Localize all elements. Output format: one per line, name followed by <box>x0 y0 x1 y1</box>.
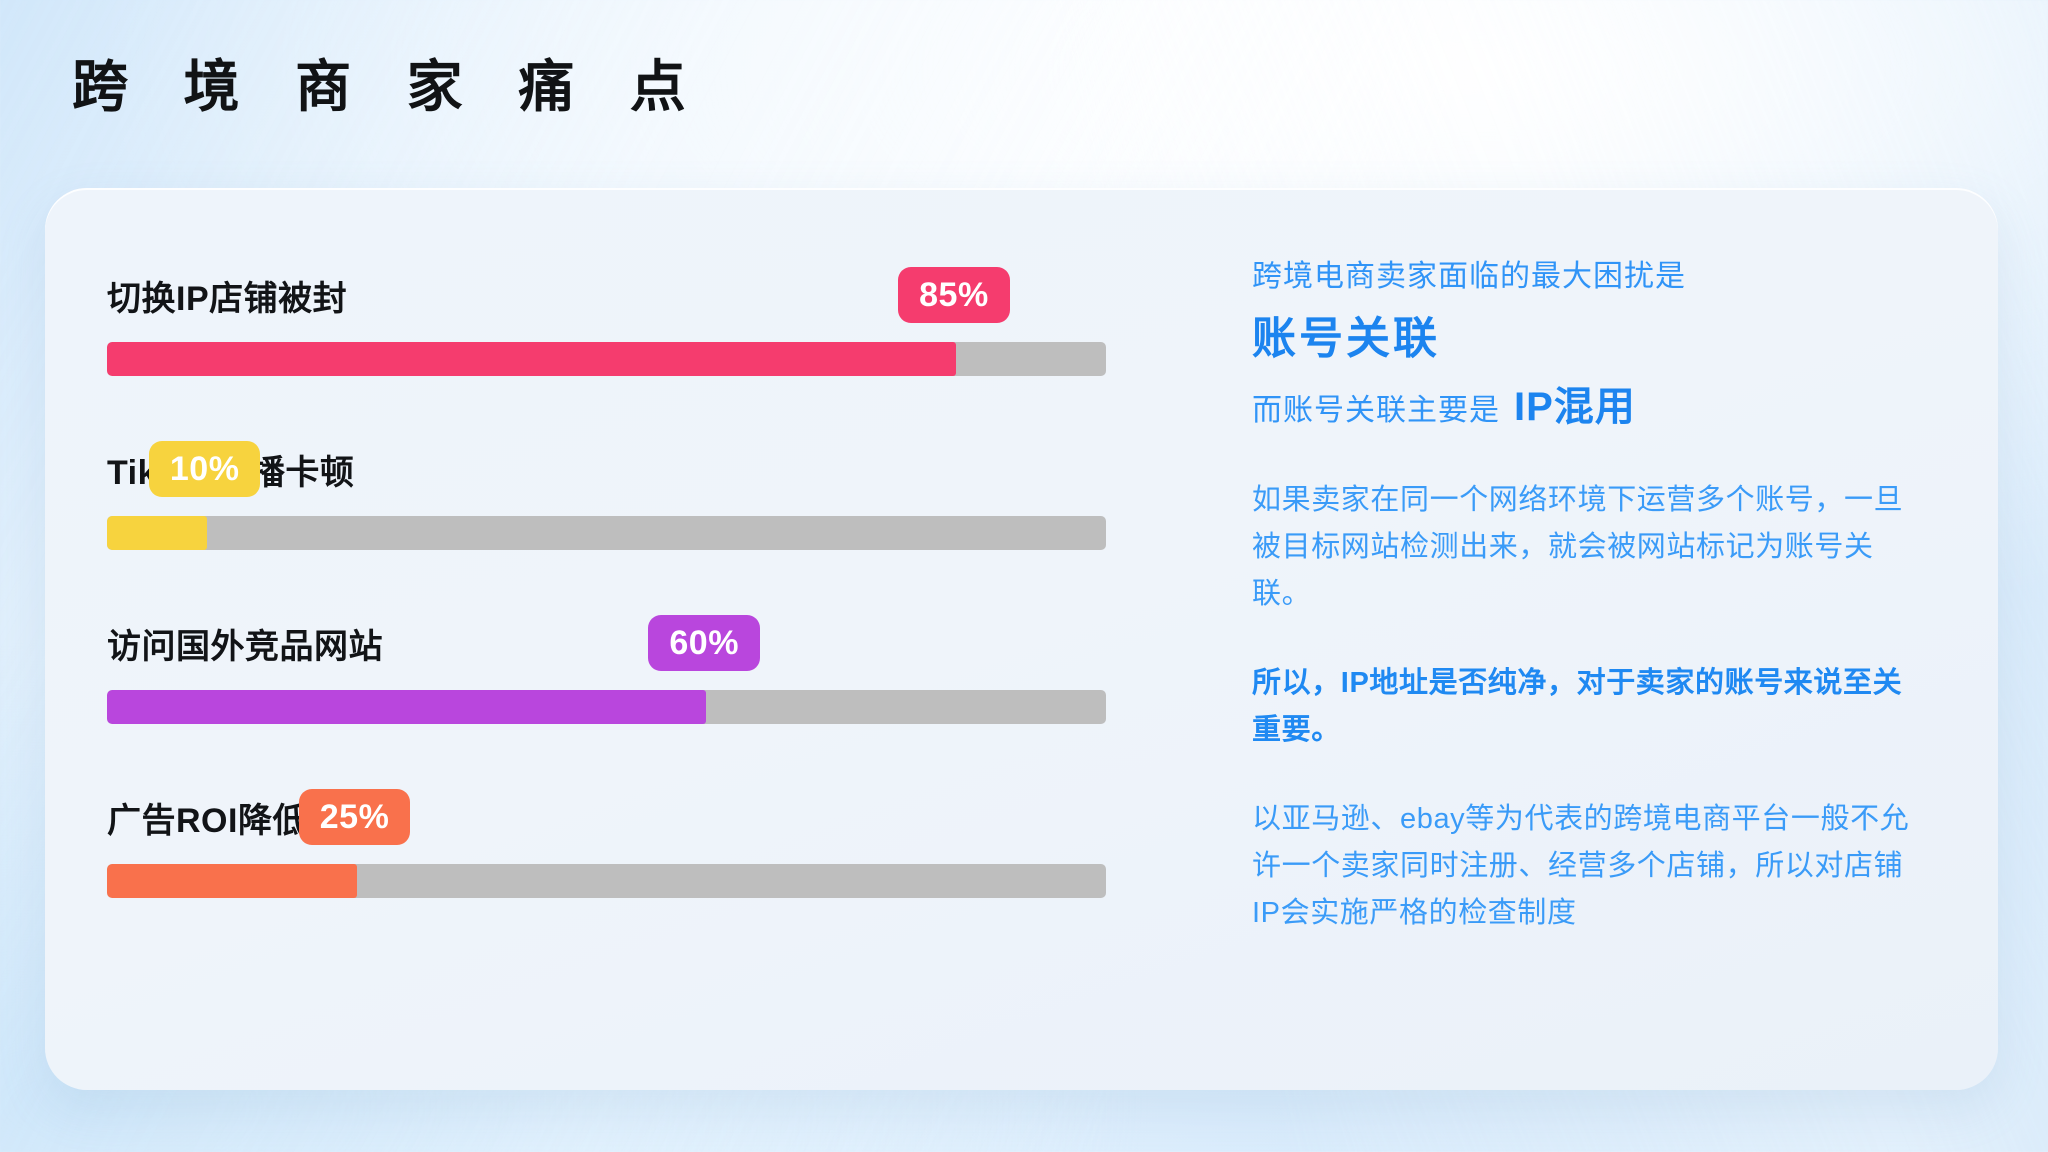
content-card: 切换IP店铺被封 85% TikTok直播卡顿 10% 访问国外竞品网站 60% <box>45 188 1998 1090</box>
bar-track <box>107 516 1106 550</box>
bar-label: 访问国外竞品网站 <box>107 619 383 668</box>
copy-subline-prefix: 而账号关联主要是 <box>1252 390 1500 432</box>
page-title: 跨 境 商 家 痛 点 <box>72 56 706 118</box>
chart-row-header: 广告ROI降低 25% <box>107 780 1200 854</box>
bar-fill <box>107 690 706 724</box>
chart-row-header: 切换IP店铺被封 85% <box>107 258 1200 332</box>
bar-label: 切换IP店铺被封 <box>107 271 347 320</box>
bar-value-badge: 60% <box>648 615 760 671</box>
bar-track <box>107 690 1106 724</box>
bar-value-badge: 10% <box>149 441 261 497</box>
copy-subline-emphasis: IP混用 <box>1514 379 1636 435</box>
copy-hero-term: 账号关联 <box>1252 313 1926 366</box>
explanation-pane: 跨境电商卖家面临的最大困扰是 账号关联 而账号关联主要是 IP混用 如果卖家在同… <box>1200 188 1998 1090</box>
chart-row: 广告ROI降低 25% <box>107 780 1200 898</box>
bar-fill <box>107 516 207 550</box>
bar-value-badge: 85% <box>898 267 1010 323</box>
chart-row-header: TikTok直播卡顿 10% <box>107 432 1200 506</box>
bar-label: 广告ROI降低 <box>107 793 307 842</box>
pain-point-bar-chart: 切换IP店铺被封 85% TikTok直播卡顿 10% 访问国外竞品网站 60% <box>45 188 1200 1090</box>
chart-row: TikTok直播卡顿 10% <box>107 432 1200 550</box>
bar-track <box>107 342 1106 376</box>
bar-fill <box>107 342 956 376</box>
copy-subline: 而账号关联主要是 IP混用 <box>1252 379 1926 435</box>
chart-row: 切换IP店铺被封 85% <box>107 258 1200 376</box>
chart-row-header: 访问国外竞品网站 60% <box>107 606 1200 680</box>
bar-value-badge: 25% <box>299 789 411 845</box>
copy-paragraph-1: 如果卖家在同一个网络环境下运营多个账号，一旦被目标网站检测出来，就会被网站标记为… <box>1252 477 1926 618</box>
bar-track <box>107 864 1106 898</box>
copy-lede: 跨境电商卖家面临的最大困扰是 <box>1252 254 1926 301</box>
copy-paragraph-2: 所以，IP地址是否纯净，对于卖家的账号来说至关重要。 <box>1252 660 1926 754</box>
chart-row: 访问国外竞品网站 60% <box>107 606 1200 724</box>
bar-fill <box>107 864 357 898</box>
copy-paragraph-3: 以亚马逊、ebay等为代表的跨境电商平台一般不允许一个卖家同时注册、经营多个店铺… <box>1252 796 1926 937</box>
